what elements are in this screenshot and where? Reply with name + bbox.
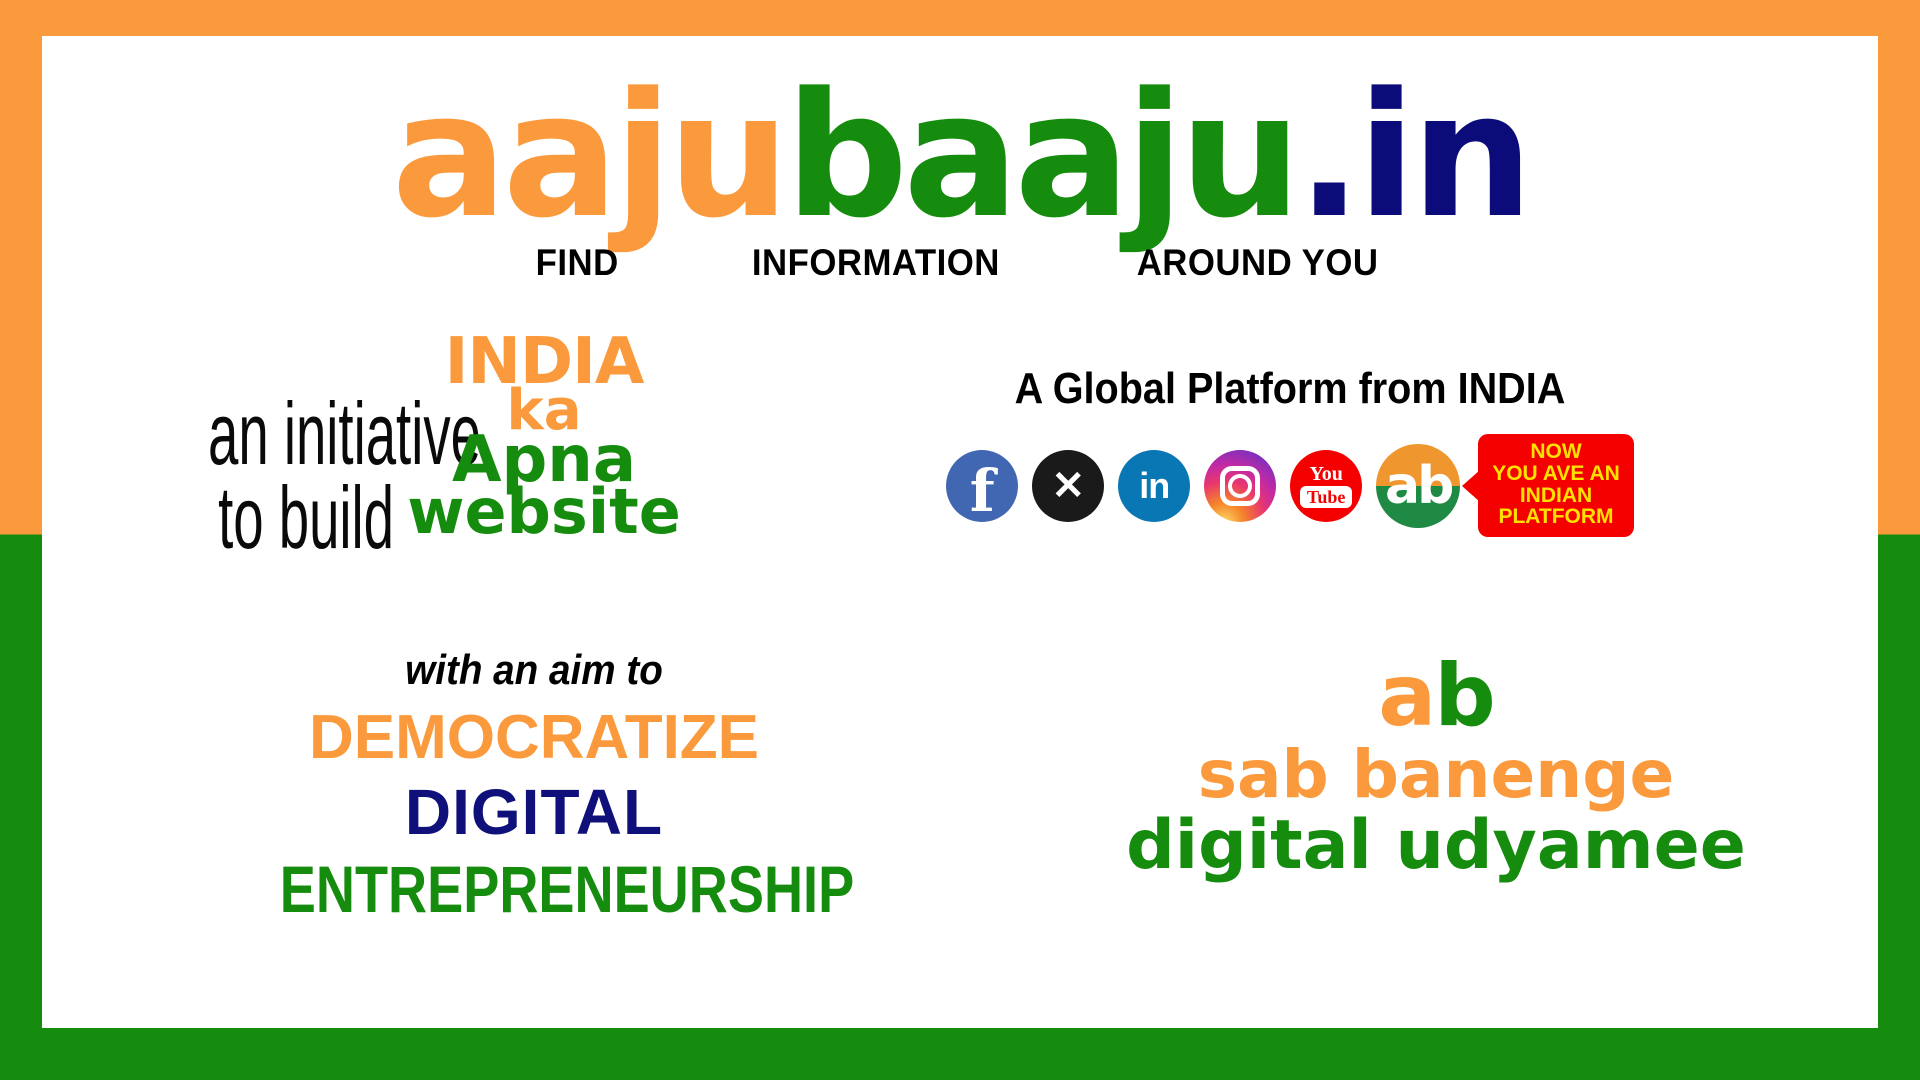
brand-logo: aajubaaju.in — [42, 70, 1878, 242]
tricolour-frame: aajubaaju.in FIND INFORMATION AROUND YOU… — [0, 0, 1920, 1080]
aajubaaju-ab-icon[interactable]: ab — [1376, 444, 1460, 528]
badge-line-3: INDIAN — [1492, 485, 1620, 507]
website-word: website — [394, 487, 694, 538]
initiative-text: an initiative to build — [208, 392, 394, 561]
instagram-camera-shape — [1220, 466, 1260, 506]
youtube-you-glyph: You — [1310, 464, 1343, 484]
bottom-section: with an aim to DEMOCRATIZE DIGITAL ENTRE… — [94, 646, 1826, 916]
aim-block: with an aim to DEMOCRATIZE DIGITAL ENTRE… — [224, 646, 844, 927]
ab-slogan-block: ab sab banenge digital udyamee — [1086, 656, 1786, 880]
facebook-glyph: f — [970, 462, 995, 520]
youtube-tube-glyph: Tube — [1300, 486, 1352, 508]
logo-part-aaju: aaju — [392, 55, 786, 256]
badge-line-4: PLATFORM — [1492, 506, 1620, 528]
logo-part-baaju: baaju — [785, 55, 1297, 256]
tagline-word-information: INFORMATION — [752, 242, 1000, 284]
ab-wordmark-b: b — [1434, 646, 1494, 746]
tagline-word-around-you: AROUND YOU — [1137, 242, 1379, 284]
initiative-line-2: to build — [208, 476, 394, 560]
ab-wordmark: ab — [1086, 656, 1786, 738]
aim-word-entrepreneurship: ENTREPRENEURSHIP — [280, 851, 788, 927]
ab-slogan-line-2: digital udyamee — [1086, 812, 1786, 880]
india-ka-apna-website: INDIA ka Apna website — [394, 336, 694, 538]
aim-label: with an aim to — [249, 646, 819, 694]
linkedin-icon[interactable]: in — [1118, 450, 1190, 522]
global-platform-block: A Global Platform from INDIA f ✕ in — [754, 364, 1826, 537]
social-links-row: f ✕ in You Tube — [754, 434, 1826, 537]
banner-canvas: aajubaaju.in FIND INFORMATION AROUND YOU… — [42, 36, 1878, 1028]
x-twitter-icon[interactable]: ✕ — [1032, 450, 1104, 522]
aim-word-democratize: DEMOCRATIZE — [224, 702, 844, 773]
youtube-wordmark: You Tube — [1300, 464, 1352, 508]
logo-part-tld: .in — [1297, 55, 1529, 256]
global-platform-title: A Global Platform from INDIA — [808, 364, 1773, 414]
middle-section: an initiative to build INDIA ka Apna web… — [94, 336, 1826, 586]
badge-line-2: YOU AVE AN — [1492, 463, 1620, 485]
facebook-icon[interactable]: f — [946, 450, 1018, 522]
indian-platform-badge: NOW YOU AVE AN INDIAN PLATFORM — [1478, 434, 1634, 537]
x-twitter-glyph: ✕ — [1051, 463, 1085, 509]
brand-tagline: FIND INFORMATION AROUND YOU — [42, 242, 1878, 284]
ab-slogan-line-1: sab banenge — [1086, 742, 1786, 808]
ab-glyph: ab — [1385, 456, 1451, 516]
linkedin-glyph: in — [1139, 465, 1169, 507]
youtube-icon[interactable]: You Tube — [1290, 450, 1362, 522]
ab-wordmark-a: a — [1378, 646, 1434, 746]
tagline-word-find: FIND — [536, 242, 619, 284]
initiative-line-1: an initiative — [208, 392, 394, 476]
instagram-icon[interactable] — [1204, 450, 1276, 522]
aim-word-digital: DIGITAL — [224, 775, 844, 849]
badge-line-1: NOW — [1492, 441, 1620, 463]
